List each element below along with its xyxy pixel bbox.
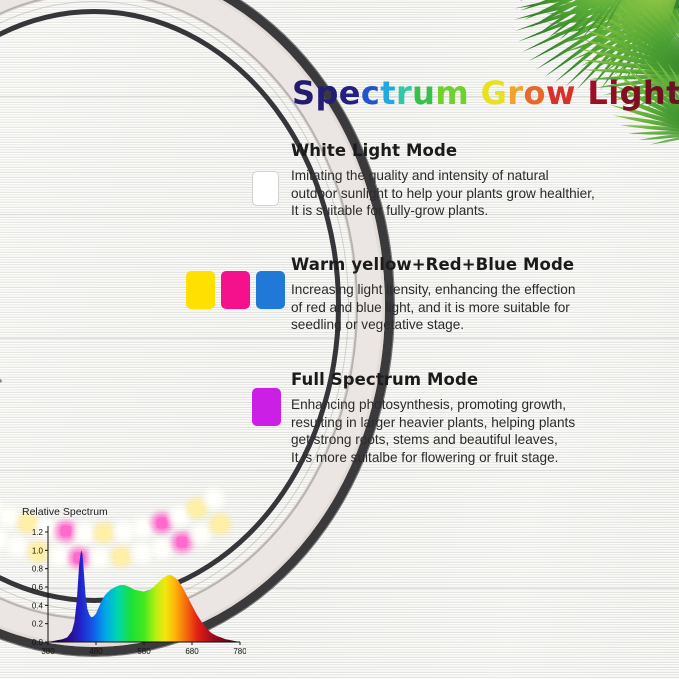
headline-letter: L	[587, 74, 608, 112]
chart-title: Relative Spectrum	[22, 506, 108, 518]
headline-letter: t	[380, 74, 396, 112]
headline-letter: o	[523, 74, 545, 112]
headline-letter: p	[315, 74, 338, 112]
headline-letter: c	[361, 74, 380, 112]
feature-full-spectrum-mode: Full Spectrum Mode Enhancing photosynthe…	[291, 370, 575, 466]
headline-letter: e	[339, 74, 361, 112]
feature-warm-yellow-red-blue-mode: Warm yellow+Red+Blue Mode Increasing lig…	[291, 255, 575, 334]
feature-body-line: Enhancing photosynthesis, promoting grow…	[291, 396, 575, 414]
feature-body: Enhancing photosynthesis, promoting grow…	[291, 396, 575, 466]
feature-title: Warm yellow+Red+Blue Mode	[291, 255, 575, 274]
headline-letter: r	[396, 74, 412, 112]
headline-letter: h	[643, 74, 666, 112]
x-tick-label: 580	[137, 647, 151, 656]
purple-swatch	[252, 388, 281, 426]
chart-plot: 0.00.20.40.60.81.01.2380480580680780	[18, 506, 246, 666]
feature-body: Imitating the quality and intensity of n…	[291, 167, 595, 220]
feature-body-line: Increasing light itensity, enhancing the…	[291, 281, 575, 299]
magenta-swatch	[221, 271, 250, 309]
y-tick-label: 0.4	[32, 601, 44, 610]
headline-letter: w	[546, 74, 576, 112]
y-tick-label: 1.0	[32, 546, 44, 555]
y-tick-label: 0.8	[32, 565, 44, 574]
feature-title: Full Spectrum Mode	[291, 370, 575, 389]
x-tick-label: 680	[185, 647, 199, 656]
x-tick-label: 380	[41, 647, 55, 656]
relative-spectrum-chart: Relative Spectrum	[18, 506, 246, 666]
headline-letter	[576, 74, 588, 112]
headline-letter: G	[481, 74, 508, 112]
yellow-swatch	[186, 271, 215, 309]
y-tick-label: 0.2	[32, 620, 44, 629]
feature-body-line: of red and blue light, and it is more su…	[291, 299, 575, 317]
blue-swatch	[256, 271, 285, 309]
headline-letter: g	[620, 74, 643, 112]
headline-letter	[469, 74, 481, 112]
feature-body-line: Imitating the quality and intensity of n…	[291, 167, 595, 185]
y-tick-label: 1.2	[32, 528, 44, 537]
spectrum-area	[48, 550, 240, 642]
feature-body-line: get strong roots, stems and beautiful le…	[291, 431, 575, 449]
feature-body-line: It is more suitalbe for flowering or fru…	[291, 449, 575, 467]
product-marketing-image: Spectrum Grow Light White Light Mode Imi…	[0, 0, 679, 679]
headline-letter: i	[608, 74, 619, 112]
x-tick-label: 480	[89, 647, 103, 656]
headline-letter: r	[507, 74, 523, 112]
headline-letter: u	[412, 74, 435, 112]
y-tick-label: 0.0	[32, 638, 44, 647]
headline-letter: m	[435, 74, 469, 112]
white-swatch	[252, 171, 279, 206]
y-tick-label: 0.6	[32, 583, 44, 592]
feature-body-line: It is suitable for fully-grow plants.	[291, 202, 595, 220]
feature-body-line: outdoor sunlight to help your plants gro…	[291, 185, 595, 203]
headline-letter: S	[292, 74, 315, 112]
feature-body-line: seedling or vegetative stage.	[291, 316, 575, 334]
feature-body: Increasing light itensity, enhancing the…	[291, 281, 575, 334]
feature-white-light-mode: White Light Mode Imitating the quality a…	[291, 141, 595, 220]
x-tick-label: 780	[233, 647, 246, 656]
feature-body-line: resulting in larger heavier plants, help…	[291, 414, 575, 432]
headline-letter: t	[666, 74, 679, 112]
feature-title: White Light Mode	[291, 141, 595, 160]
page-title: Spectrum Grow Light	[292, 74, 679, 112]
